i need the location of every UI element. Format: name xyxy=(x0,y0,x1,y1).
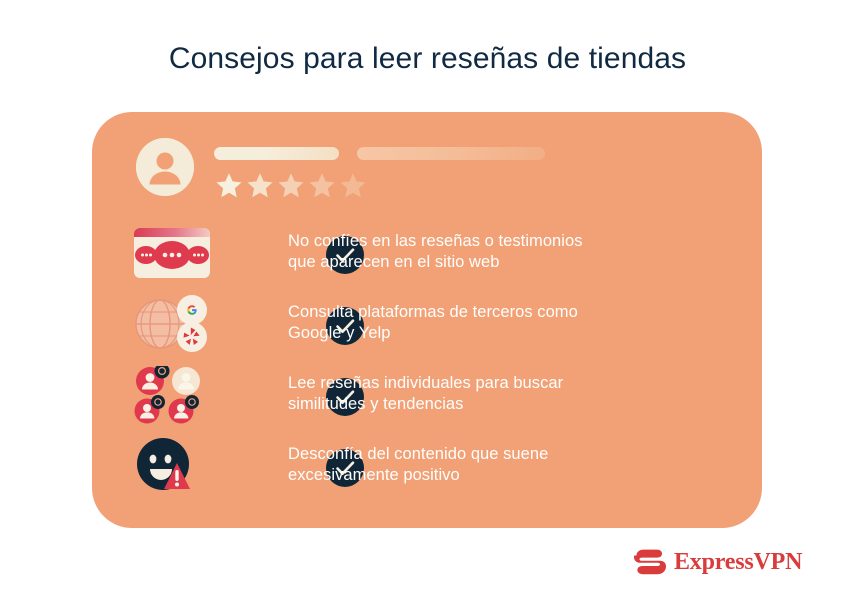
tip-row: Lee reseñas individuales para buscar sim… xyxy=(92,366,762,428)
star-icon xyxy=(245,171,275,201)
expressvpn-logo: ExpressVPN xyxy=(633,545,793,579)
tip-row: Consulta plataformas de terceros como Go… xyxy=(92,295,762,357)
tip-text-line: Desconfía del contenido que suene xyxy=(288,444,688,465)
tip-text-line: Lee reseñas individuales para buscar xyxy=(288,373,688,394)
star-icon xyxy=(214,171,244,201)
star-icon xyxy=(307,171,337,201)
review-placeholder-bars xyxy=(214,147,554,161)
tip-text: Desconfía del contenido que suene excesi… xyxy=(288,444,688,486)
multiple-user-avatars-icon xyxy=(134,366,212,424)
globe-google-yelp-icon xyxy=(134,295,212,353)
tip-row: Desconfía del contenido que suene excesi… xyxy=(92,437,762,499)
expressvpn-logo-icon xyxy=(633,549,667,575)
smiley-warning-icon xyxy=(134,437,212,495)
expressvpn-wordmark: ExpressVPN xyxy=(674,549,802,576)
tip-text: No confíes en las reseñas o testimonios … xyxy=(288,231,688,273)
tip-text: Lee reseñas individuales para buscar sim… xyxy=(288,373,688,415)
person-avatar-icon xyxy=(136,138,194,196)
placeholder-bar-secondary xyxy=(357,147,545,160)
placeholder-bar-primary xyxy=(214,147,339,160)
tip-text-line: No confíes en las reseñas o testimonios xyxy=(288,231,688,252)
tip-text-line: que aparecen en el sitio web xyxy=(288,252,688,273)
infographic-canvas: Consejos para leer reseñas de tiendas xyxy=(0,0,855,609)
star-rating xyxy=(214,171,384,203)
tip-text-line: similitudes y tendencias xyxy=(288,394,688,415)
chat-bubbles-window-icon xyxy=(134,224,212,282)
tips-card: No confíes en las reseñas o testimonios … xyxy=(92,112,762,528)
tip-text-line: Google y Yelp xyxy=(288,323,688,344)
star-icon xyxy=(338,171,368,201)
tip-row: No confíes en las reseñas o testimonios … xyxy=(92,224,762,286)
tip-text-line: excesivamente positivo xyxy=(288,465,688,486)
star-icon xyxy=(276,171,306,201)
page-title: Consejos para leer reseñas de tiendas xyxy=(0,40,855,78)
tip-text-line: Consulta plataformas de terceros como xyxy=(288,302,688,323)
review-preview-header xyxy=(136,138,656,218)
tip-text: Consulta plataformas de terceros como Go… xyxy=(288,302,688,344)
